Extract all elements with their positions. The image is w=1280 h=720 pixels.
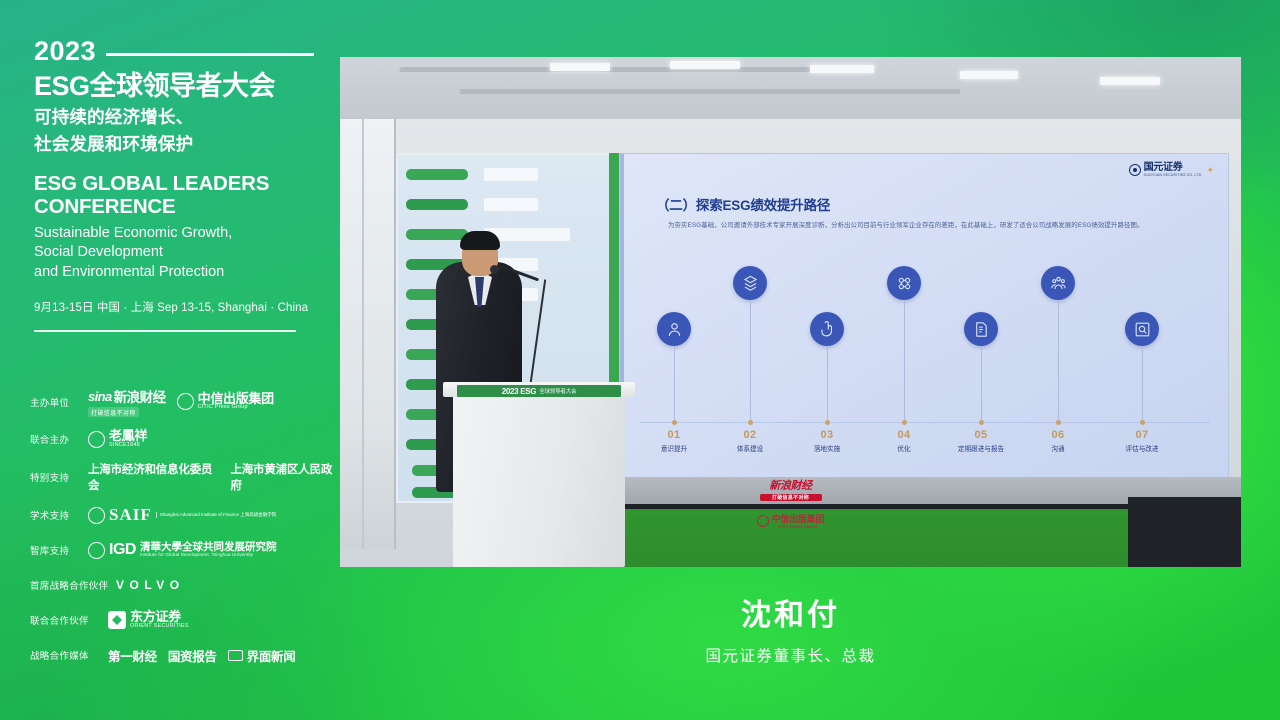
jiemian-box-icon (228, 650, 243, 661)
orient-securities-logo: 东方证券 ORIENT SECURITIES (108, 610, 189, 629)
ceiling-light (670, 61, 740, 69)
document-report-icon (964, 312, 998, 346)
year-rule (106, 53, 314, 56)
slide-step-04: 04 优化 (872, 266, 936, 453)
podium-banner-main: 2023 ESG (502, 387, 537, 396)
step-dot (902, 420, 907, 425)
guoyuan-name-en: GUOYUAN SECURITIES CO.,LTD. (1144, 174, 1203, 177)
guoyuan-wordmark: 国元证券 GUOYUAN SECURITIES CO.,LTD. (1144, 163, 1203, 177)
podium-citic-emblem-icon (757, 515, 769, 527)
event-date-location: 9月13-15日 中国 · 上海 Sep 13-15, Shanghai · C… (34, 299, 314, 315)
step-stem (674, 346, 675, 420)
saif-wordmark: SAIF (109, 505, 152, 525)
orient-name-cn: 东方证券 (130, 610, 189, 624)
sponsor-logos: VOLVO (116, 578, 340, 592)
hand-click-icon (810, 312, 844, 346)
huangpu-government-name: 上海市黄浦区人民政府 (230, 461, 340, 493)
speaker-name: 沈和付 (340, 590, 1241, 634)
step-dot (979, 420, 984, 425)
sponsor-row-thinktank-support: 智库支持 IGD 清華大學全球共同发展研究院 Institute for Glo… (30, 537, 340, 563)
sponsor-label: 学术支持 (30, 508, 88, 522)
microphone-capsule-icon (490, 265, 499, 274)
step-stem (827, 346, 828, 420)
sponsor-logos: 东方证券 ORIENT SECURITIES (108, 610, 340, 629)
ceiling-light (960, 71, 1018, 79)
igd-names: 清華大學全球共同发展研究院 Institute for Global Devel… (140, 542, 277, 558)
step-dot (748, 420, 753, 425)
event-subtitle-en-line2: Social Development (34, 243, 314, 263)
step-stem (1058, 300, 1059, 420)
sponsor-label: 战略合作媒体 (30, 648, 108, 662)
sina-lockup: sina 新浪财经 (88, 386, 166, 406)
citic-name-cn: 中信出版集团 (198, 392, 274, 406)
slide-step-05: 05 定期跟进与报告 (949, 312, 1013, 453)
ceiling-light (810, 65, 874, 73)
step-label: 定期跟进与报告 (949, 443, 1013, 453)
guoyuan-securities-logo: 国元证券 GUOYUAN SECURITIES CO.,LTD. ✦ (1129, 163, 1214, 177)
sponsor-row-organizer: 主办单位 sina 新浪财经 打破信息不对称 中信出版集团 CITIC Pres… (30, 386, 340, 417)
sponsor-label: 特别支持 (30, 470, 88, 484)
podium-sina-slogan: 打破信息不对称 (760, 494, 822, 501)
backdrop-logo (484, 198, 538, 211)
sponsor-row-special-support: 特别支持 上海市经济和信息化委员会 上海市黄浦区人民政府 (30, 461, 340, 493)
backdrop-tag (406, 229, 468, 240)
sponsor-row-chief-strategic-partner: 首席战略合作伙伴 VOLVO (30, 572, 340, 598)
sponsor-label: 首席战略合作伙伴 (30, 578, 116, 592)
orient-diamond-icon (108, 611, 126, 629)
sponsor-row-strategic-media: 战略合作媒体 第一财经 国资报告 界面新闻 (30, 642, 340, 668)
guoyuan-name-cn: 国元证券 (1144, 163, 1203, 173)
ceiling-light (550, 63, 610, 71)
slide-step-07: 07 评估与改进 (1110, 312, 1174, 453)
step-label: 优化 (872, 443, 936, 453)
podium-sina-logo: 新浪财经 打破信息不对称 (340, 477, 1241, 501)
event-subtitle-en: Sustainable Economic Growth, Social Deve… (34, 224, 314, 283)
podium-citic-name-en: CITIC PRESS GROUP (772, 525, 825, 529)
slide-body-text: 为夯实ESG基础，公司邀请外部技术专家开展深度诊断，分析出公司目前与行业领军企业… (668, 220, 1196, 232)
jiemian-wordmark: 界面新闻 (247, 646, 296, 665)
magnifier-review-icon (1125, 312, 1159, 346)
backdrop-logo (484, 168, 538, 181)
header-divider (34, 330, 296, 332)
slide-step-02: 02 体系建设 (718, 266, 782, 453)
sponsor-list: 主办单位 sina 新浪财经 打破信息不对称 中信出版集团 CITIC Pres… (30, 386, 340, 677)
slide-title: （二）探索ESG绩效提升路径 (656, 194, 830, 214)
laofengxiang-emblem-icon (88, 431, 105, 448)
step-dot (672, 420, 677, 425)
tsinghua-emblem-icon (88, 542, 105, 559)
sponsor-logos: 上海市经济和信息化委员会 上海市黄浦区人民政府 (88, 461, 340, 493)
event-year: 2023 (34, 38, 96, 65)
step-dot (1056, 420, 1061, 425)
yicai-wordmark: 第一财经 (108, 646, 157, 665)
sponsor-label: 联合主办 (30, 432, 88, 446)
sina-wordmark-en: sina (88, 389, 112, 404)
volvo-wordmark: VOLVO (116, 578, 185, 592)
network-nodes-icon (887, 266, 921, 300)
sponsor-label: 联合合作伙伴 (30, 613, 108, 627)
layers-system-icon (733, 266, 767, 300)
event-subtitle-en-line3: and Environmental Protection (34, 263, 314, 283)
event-subtitle-cn-line2: 社会发展和环境保护 (34, 133, 314, 156)
guozi-report-wordmark: 国资报告 (168, 646, 217, 665)
event-branding-panel: 2023 ESG全球领导者大会 可持续的经济增长、 社会发展和环境保护 ESG … (0, 0, 340, 720)
people-group-icon (1041, 266, 1075, 300)
sina-finance-logo: sina 新浪财经 打破信息不对称 (88, 386, 166, 417)
igd-wordmark: IGD (109, 541, 136, 559)
step-stem (981, 346, 982, 420)
sparkle-icon: ✦ (1206, 165, 1214, 176)
shanghai-economy-commission-name: 上海市经济和信息化委员会 (88, 461, 219, 493)
laofengxiang-wordmark: 老鳳祥 SINCE1848 (109, 429, 147, 448)
podium-citic-logo: 中信出版集团 CITIC PRESS GROUP (340, 512, 1241, 529)
sponsor-row-academic-support: 学术支持 SAIF Shanghai Advanced Institute of… (30, 502, 340, 528)
step-dot (1140, 420, 1145, 425)
step-stem (750, 300, 751, 420)
person-awareness-icon (657, 312, 691, 346)
event-subtitle-cn-line1: 可持续的经济增长、 (34, 106, 314, 129)
podium-banner: 2023 ESG 全球领导者大会 (457, 385, 621, 397)
ceiling (340, 57, 1241, 119)
step-number: 07 (1110, 429, 1174, 441)
event-header: 2023 ESG全球领导者大会 可持续的经济增长、 社会发展和环境保护 ESG … (34, 38, 314, 315)
step-number: 06 (1026, 429, 1090, 441)
event-title-cn: ESG全球领导者大会 (34, 72, 314, 102)
sina-slogan: 打破信息不对称 (88, 407, 139, 417)
igd-name-en: Institute for Global Development, Tsingh… (140, 553, 277, 558)
ceiling-strip (459, 89, 960, 94)
igd-tsinghua-logo: IGD 清華大學全球共同发展研究院 Institute for Global D… (88, 541, 276, 559)
event-title-en: ESG GLOBAL LEADERS CONFERENCE (34, 173, 314, 219)
step-number: 01 (642, 429, 706, 441)
podium-citic-name-cn: 中信出版集团 (772, 514, 825, 524)
slide-step-06: 06 沟通 (1026, 266, 1090, 453)
laofengxiang-name-cn: 老鳳祥 (109, 429, 147, 443)
speaker-caption: 沈和付 国元证券董事长、总裁 (340, 590, 1241, 666)
sina-wordmark-cn: 新浪财经 (114, 386, 166, 406)
podium-banner-sub: 全球领导者大会 (539, 387, 576, 395)
step-number: 02 (718, 429, 782, 441)
event-subtitle-en-line1: Sustainable Economic Growth, (34, 224, 314, 244)
laofengxiang-since: SINCE1848 (109, 443, 147, 449)
saif-logo: SAIF Shanghai Advanced Institute of Fina… (88, 505, 276, 525)
orient-name-en: ORIENT SECURITIES (130, 624, 189, 630)
sponsor-row-joint-partner: 联合合作伙伴 东方证券 ORIENT SECURITIES (30, 607, 340, 633)
presentation-slide: 国元证券 GUOYUAN SECURITIES CO.,LTD. ✦ （二）探索… (619, 153, 1229, 505)
step-label: 沟通 (1026, 443, 1090, 453)
step-number: 05 (949, 429, 1013, 441)
saif-fullname: Shanghai Advanced Institute of Finance 上… (156, 512, 277, 518)
podium-citic-wordmark: 中信出版集团 CITIC PRESS GROUP (772, 512, 825, 529)
guoyuan-emblem-icon (1129, 164, 1141, 176)
saif-emblem-icon (88, 507, 105, 524)
speaker-title: 国元证券董事长、总裁 (340, 644, 1241, 666)
sponsor-logos: 第一财经 国资报告 界面新闻 (108, 646, 340, 665)
sponsor-logos: SAIF Shanghai Advanced Institute of Fina… (88, 505, 340, 525)
step-dot (825, 420, 830, 425)
backdrop-tag (406, 199, 468, 210)
citic-name-en: CITIC Press Group (198, 405, 274, 411)
sponsor-logos: sina 新浪财经 打破信息不对称 中信出版集团 CITIC Press Gro… (88, 386, 340, 417)
step-number: 04 (872, 429, 936, 441)
sponsor-logos: 老鳳祥 SINCE1848 (88, 429, 340, 448)
backdrop-tag (406, 169, 468, 180)
sponsor-logos: IGD 清華大學全球共同发展研究院 Institute for Global D… (88, 541, 340, 559)
sponsor-label: 主办单位 (30, 395, 88, 409)
orient-wordmark: 东方证券 ORIENT SECURITIES (130, 610, 189, 629)
step-number: 03 (795, 429, 859, 441)
step-stem (1142, 346, 1143, 420)
stage-side-shadow (1128, 497, 1241, 567)
slide-step-03: 03 落地实施 (795, 312, 859, 453)
jiemian-news-logo: 界面新闻 (228, 646, 296, 665)
step-label: 意识提升 (642, 443, 706, 453)
sponsor-row-coorganizer: 联合主办 老鳳祥 SINCE1848 (30, 426, 340, 452)
slide-step-01: 01 意识提升 (642, 312, 706, 453)
conference-video-frame[interactable]: 国元证券 GUOYUAN SECURITIES CO.,LTD. ✦ （二）探索… (340, 57, 1241, 567)
step-label: 体系建设 (718, 443, 782, 453)
event-title-en-line2: CONFERENCE (34, 196, 314, 219)
ceiling-strip (399, 67, 821, 72)
laofengxiang-logo: 老鳳祥 SINCE1848 (88, 429, 147, 448)
step-stem (904, 300, 905, 420)
citic-wordmark: 中信出版集团 CITIC Press Group (198, 392, 274, 411)
speaker-hair (460, 231, 500, 250)
podium-sina-name: 新浪财经 (769, 480, 811, 492)
sponsor-label: 智库支持 (30, 543, 88, 557)
citic-press-logo: 中信出版集团 CITIC Press Group (177, 392, 274, 411)
year-row: 2023 (34, 38, 314, 65)
event-title-en-line1: ESG GLOBAL LEADERS (34, 173, 314, 196)
step-label: 落地实施 (795, 443, 859, 453)
citic-emblem-icon (177, 393, 194, 410)
step-label: 评估与改进 (1110, 443, 1174, 453)
ceiling-light (1100, 77, 1160, 85)
